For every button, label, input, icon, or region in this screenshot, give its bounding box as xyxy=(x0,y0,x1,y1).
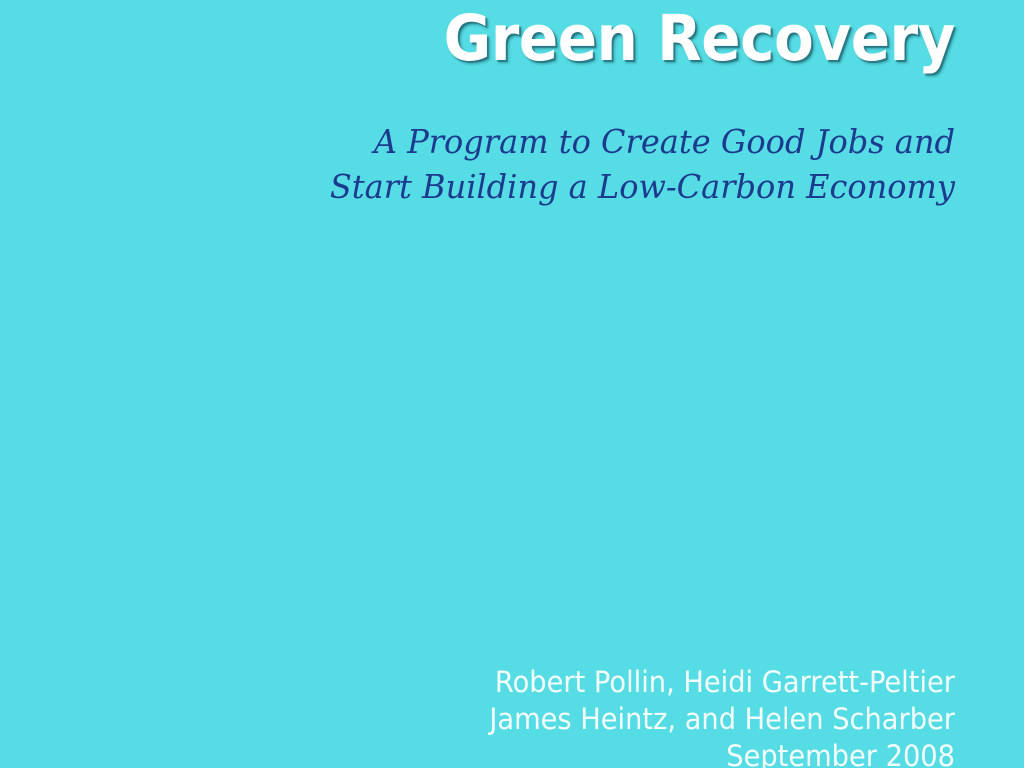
subtitle-line-2: Start Building a Low-Carbon Economy xyxy=(29,164,955,209)
cover-page: Green Recovery A Program to Create Good … xyxy=(0,0,1024,768)
title-block: Green Recovery xyxy=(0,0,955,78)
page-title: Green Recovery xyxy=(76,0,955,78)
subtitle-block: A Program to Create Good Jobs and Start … xyxy=(0,119,955,209)
subtitle-line-1: A Program to Create Good Jobs and xyxy=(29,119,955,164)
author-line-1: Robert Pollin, Heidi Garrett-Peltier xyxy=(57,664,955,701)
author-line-2: James Heintz, and Helen Scharber xyxy=(57,701,955,738)
authors-block: Robert Pollin, Heidi Garrett-Peltier Jam… xyxy=(0,664,955,768)
publication-date: September 2008 xyxy=(57,738,955,768)
